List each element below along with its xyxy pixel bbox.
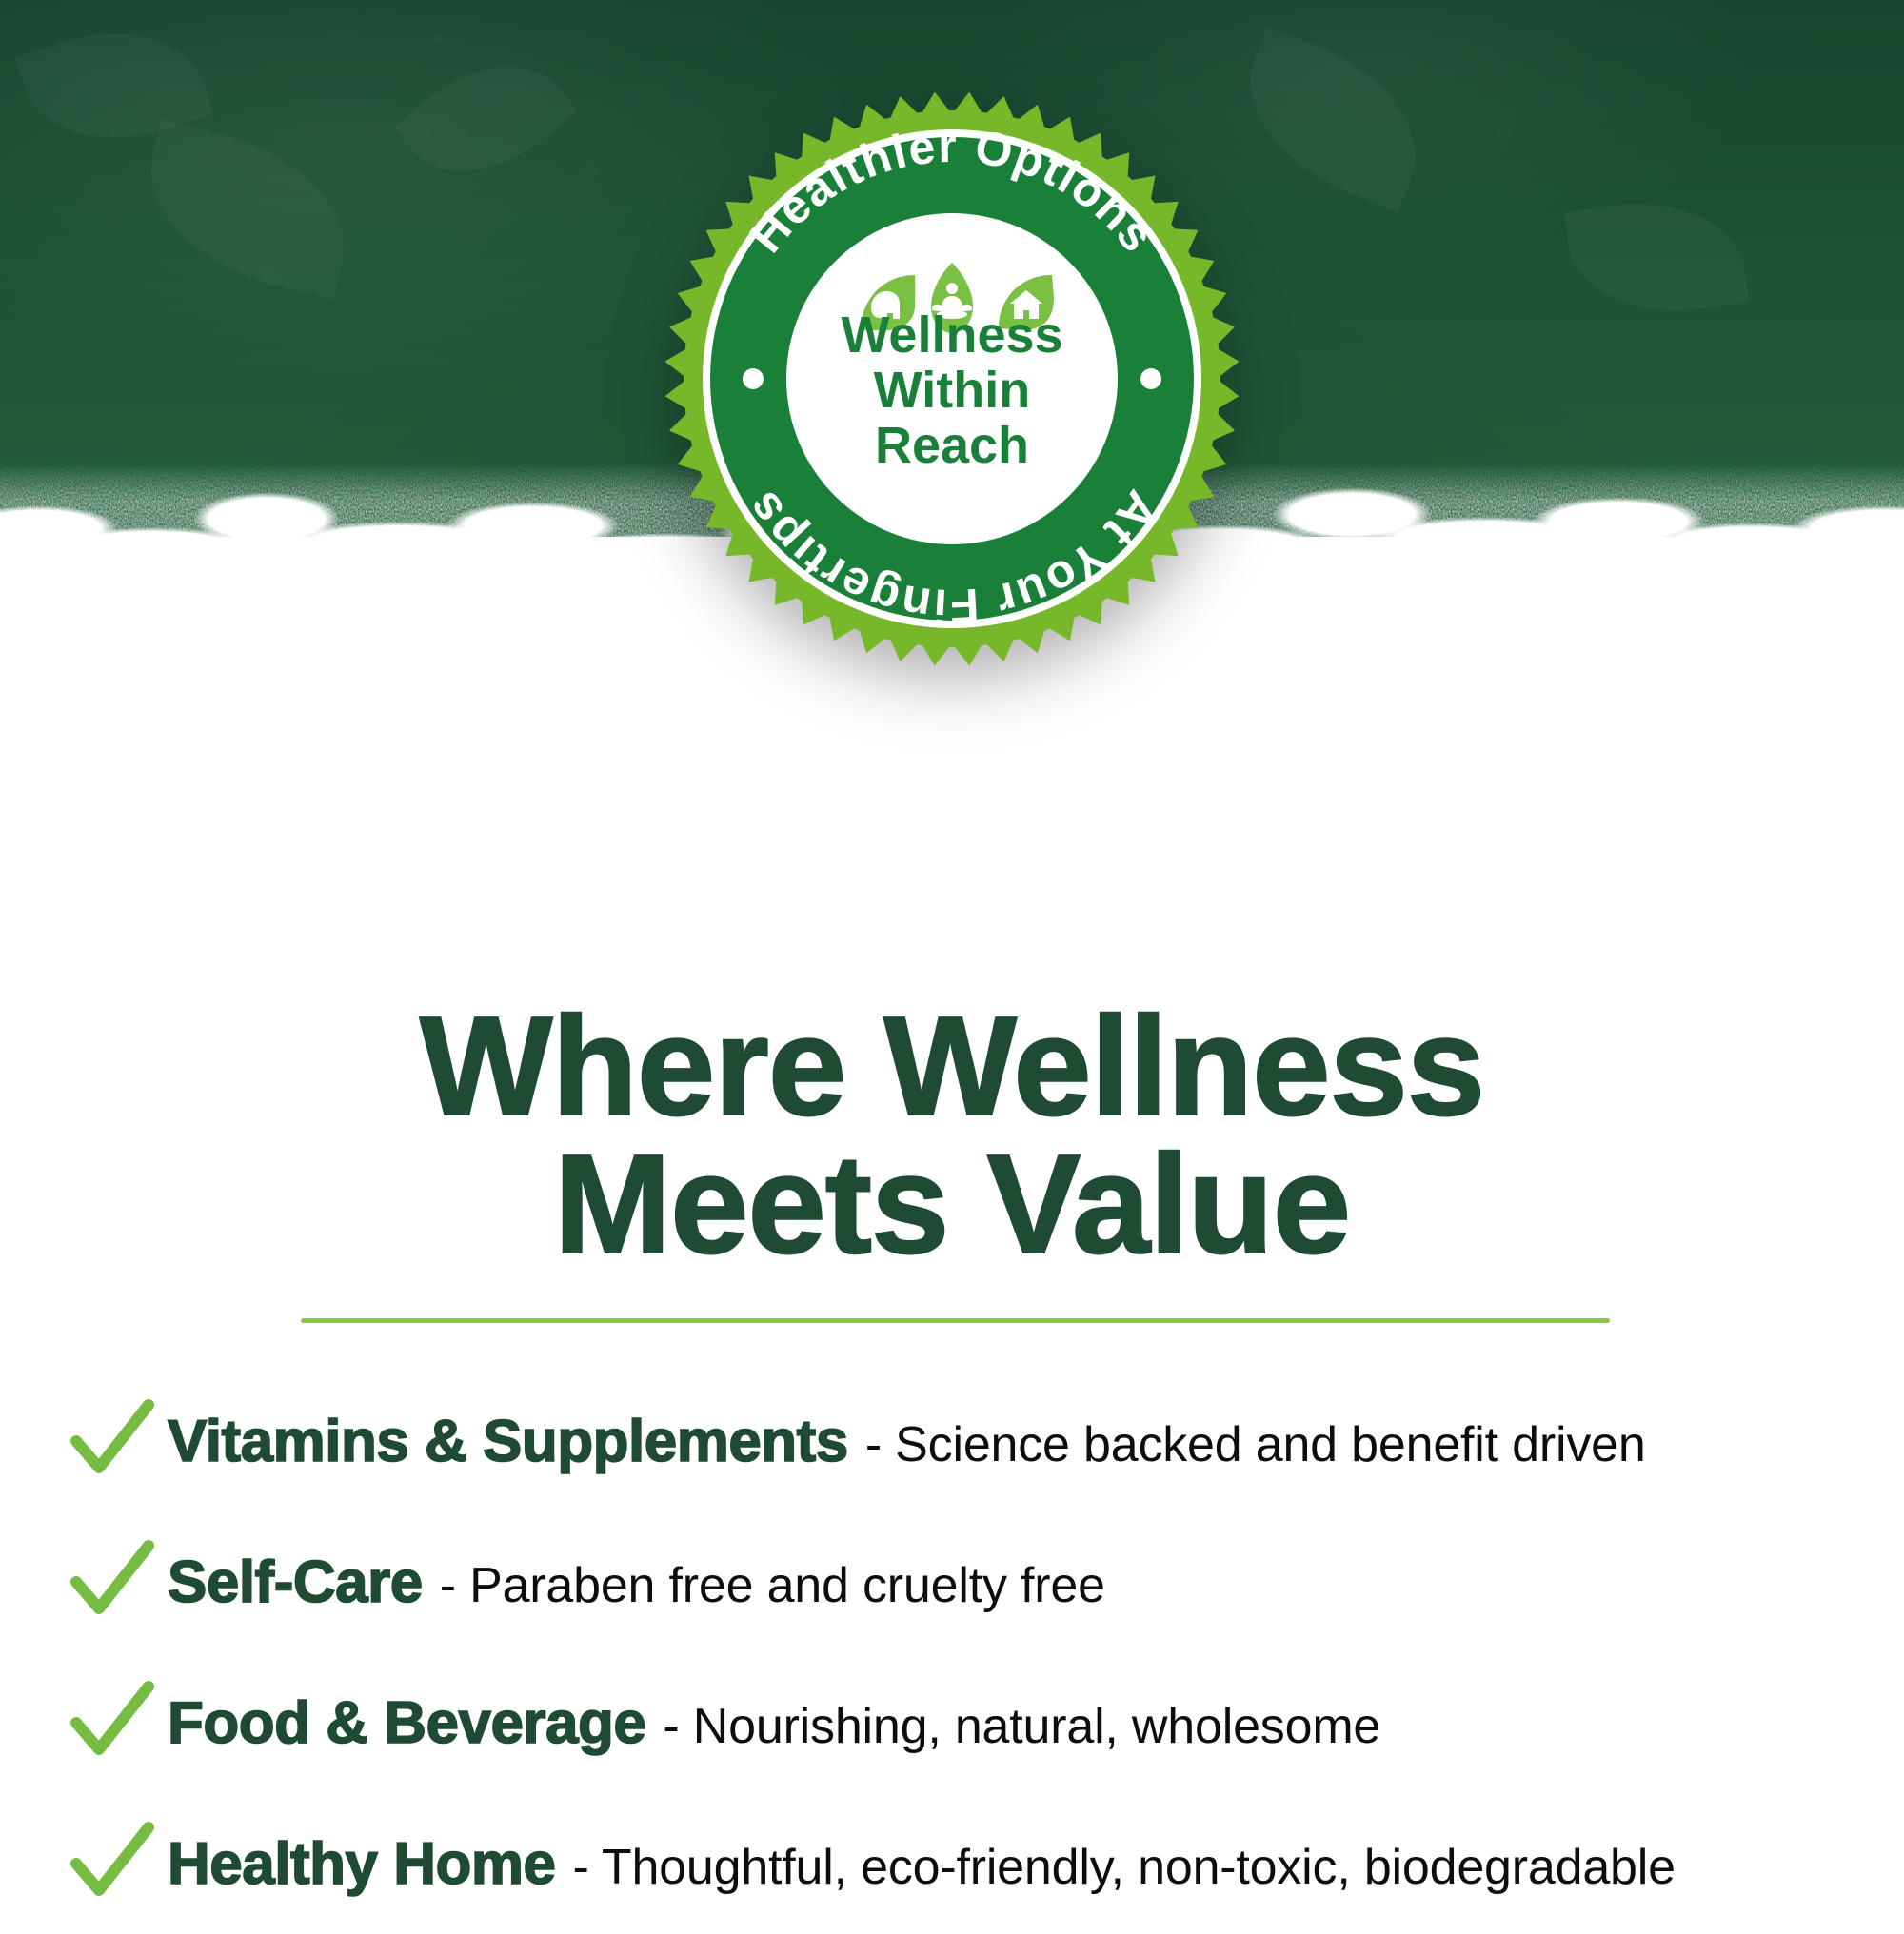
list-item-text: Food & Beverage - Nourishing, natural, w… <box>168 1689 1380 1757</box>
list-item: Self-Care - Paraben free and cruelty fre… <box>0 1511 1904 1652</box>
page-headline: Where Wellness Meets Value <box>0 997 1904 1273</box>
headline-divider <box>301 1318 1610 1323</box>
check-icon <box>67 1536 158 1628</box>
badge-seal-graphic: Healthier Options At Your Fingertips <box>657 84 1247 674</box>
list-item: Healthy Home - Thoughtful, eco-friendly,… <box>0 1793 1904 1934</box>
list-item-label: Food & Beverage <box>168 1689 645 1757</box>
check-icon <box>67 1395 158 1487</box>
headline-line-1: Where Wellness <box>0 997 1904 1135</box>
list-item: Vitamins & Supplements - Science backed … <box>0 1371 1904 1511</box>
badge-separator-dot-right <box>1140 368 1161 389</box>
list-item-label: Healthy Home <box>168 1830 555 1898</box>
badge-separator-dot-left <box>743 368 764 389</box>
list-item-desc: - Paraben free and cruelty free <box>440 1557 1105 1614</box>
wellness-badge: Healthier Options At Your Fingertips <box>657 84 1247 674</box>
check-icon <box>67 1818 158 1909</box>
badge-center-line-2: Within <box>874 362 1030 419</box>
headline-line-2: Meets Value <box>0 1135 1904 1273</box>
list-item-desc: - Thoughtful, eco-friendly, non-toxic, b… <box>572 1839 1675 1896</box>
list-item-text: Vitamins & Supplements - Science backed … <box>168 1408 1646 1475</box>
list-item: Food & Beverage - Nourishing, natural, w… <box>0 1652 1904 1793</box>
benefits-checklist: Vitamins & Supplements - Science backed … <box>0 1371 1904 1934</box>
list-item-text: Self-Care - Paraben free and cruelty fre… <box>168 1549 1105 1616</box>
badge-center-line-1: Wellness <box>841 306 1062 364</box>
list-item-desc: - Nourishing, natural, wholesome <box>663 1698 1380 1755</box>
check-icon <box>67 1677 158 1768</box>
list-item-label: Self-Care <box>168 1549 423 1616</box>
list-item-text: Healthy Home - Thoughtful, eco-friendly,… <box>168 1830 1676 1898</box>
list-item-desc: - Science backed and benefit driven <box>865 1416 1646 1473</box>
list-item-label: Vitamins & Supplements <box>168 1408 848 1475</box>
badge-center-line-3: Reach <box>875 417 1029 474</box>
